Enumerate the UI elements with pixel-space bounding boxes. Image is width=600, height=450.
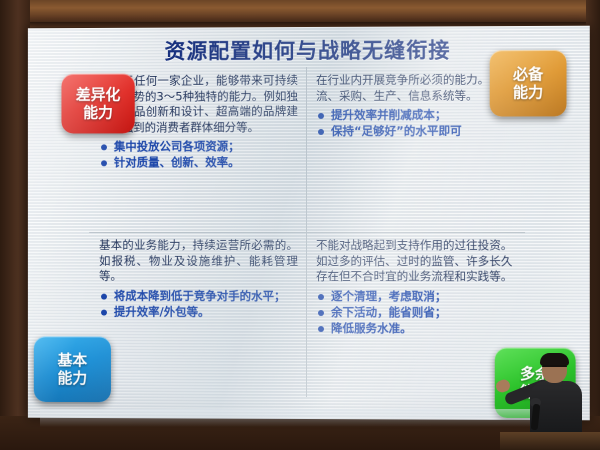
bullet-item: 余下活动，能省则省； bbox=[316, 305, 517, 320]
bullet-item: 提升效率并削减成本； bbox=[316, 107, 517, 123]
quadrant-bullet-list: 提升效率并削减成本； 保持“足够好”的水平即可 bbox=[316, 107, 517, 139]
wall-left-panel bbox=[0, 0, 30, 450]
bullet-item: 降低服务水准。 bbox=[316, 321, 517, 337]
quadrant-paragraph: 基本的业务能力，持续运营所必需的。如报税、物业及设施维护、能耗管理等。 bbox=[99, 238, 298, 285]
badge-line-1: 必备 bbox=[513, 65, 543, 83]
badge-basic-capability: 基本 能力 bbox=[34, 336, 111, 402]
slide-surface: 资源配置如何与战略无缝衔接 有别于任何一家企业，能够带来可持续竞争优势的3～5种… bbox=[28, 26, 590, 421]
bullet-item: 将成本降到低于竞争对手的水平； bbox=[99, 288, 298, 303]
quadrant-bottom-right: 不能对战略起到支持作用的过往投资。如过多的评估、过时的监管、许多长久存在但不合时… bbox=[306, 232, 525, 398]
badge-line-1: 基本 bbox=[57, 351, 87, 369]
badge-differentiating-capability: 差异化 能力 bbox=[61, 74, 134, 134]
badge-line-2: 能力 bbox=[513, 83, 543, 101]
quadrant-bullet-list: 将成本降到低于竞争对手的水平； 提升效率/外包等。 bbox=[99, 288, 298, 319]
bullet-item: 提升效率/外包等。 bbox=[99, 304, 298, 319]
quadrant-paragraph: 在行业内开展竞争所必须的能力。如物流、采购、生产、信息系统等。 bbox=[316, 72, 517, 104]
projection-screen: 资源配置如何与战略无缝衔接 有别于任何一家企业，能够带来可持续竞争优势的3～5种… bbox=[28, 26, 590, 421]
badge-line-2: 能力 bbox=[83, 104, 113, 122]
screen-bottom-reflection bbox=[40, 409, 580, 427]
badge-essential-capability: 必备 能力 bbox=[490, 50, 567, 117]
quadrant-bottom-left: 基本的业务能力，持续运营所必需的。如报税、物业及设施维护、能耗管理等。 将成本降… bbox=[89, 232, 306, 397]
glasses-icon bbox=[542, 365, 567, 373]
badge-line-1: 差异化 bbox=[76, 86, 121, 104]
badge-line-2: 能力 bbox=[57, 369, 87, 387]
bullet-item: 逐个清理，考虑取消； bbox=[316, 289, 517, 304]
photo-scene: 资源配置如何与战略无缝衔接 有别于任何一家企业，能够带来可持续竞争优势的3～5种… bbox=[0, 0, 600, 450]
front-table bbox=[500, 432, 600, 450]
bullet-item: 集中投放公司各项资源； bbox=[99, 139, 298, 154]
bullet-item: 保持“足够好”的水平即可 bbox=[316, 124, 517, 139]
quadrant-paragraph: 不能对战略起到支持作用的过往投资。如过多的评估、过时的监管、许多长久存在但不合时… bbox=[316, 238, 517, 285]
quadrant-bullet-list: 集中投放公司各项资源； 针对质量、创新、效率。 bbox=[99, 139, 298, 170]
bullet-item: 针对质量、创新、效率。 bbox=[99, 155, 298, 170]
quadrant-grid: 有别于任何一家企业，能够带来可持续竞争优势的3～5种独特的能力。例如独特的产品创… bbox=[89, 66, 525, 398]
quadrant-bullet-list: 逐个清理，考虑取消； 余下活动，能省则省； 降低服务水准。 bbox=[316, 289, 517, 337]
